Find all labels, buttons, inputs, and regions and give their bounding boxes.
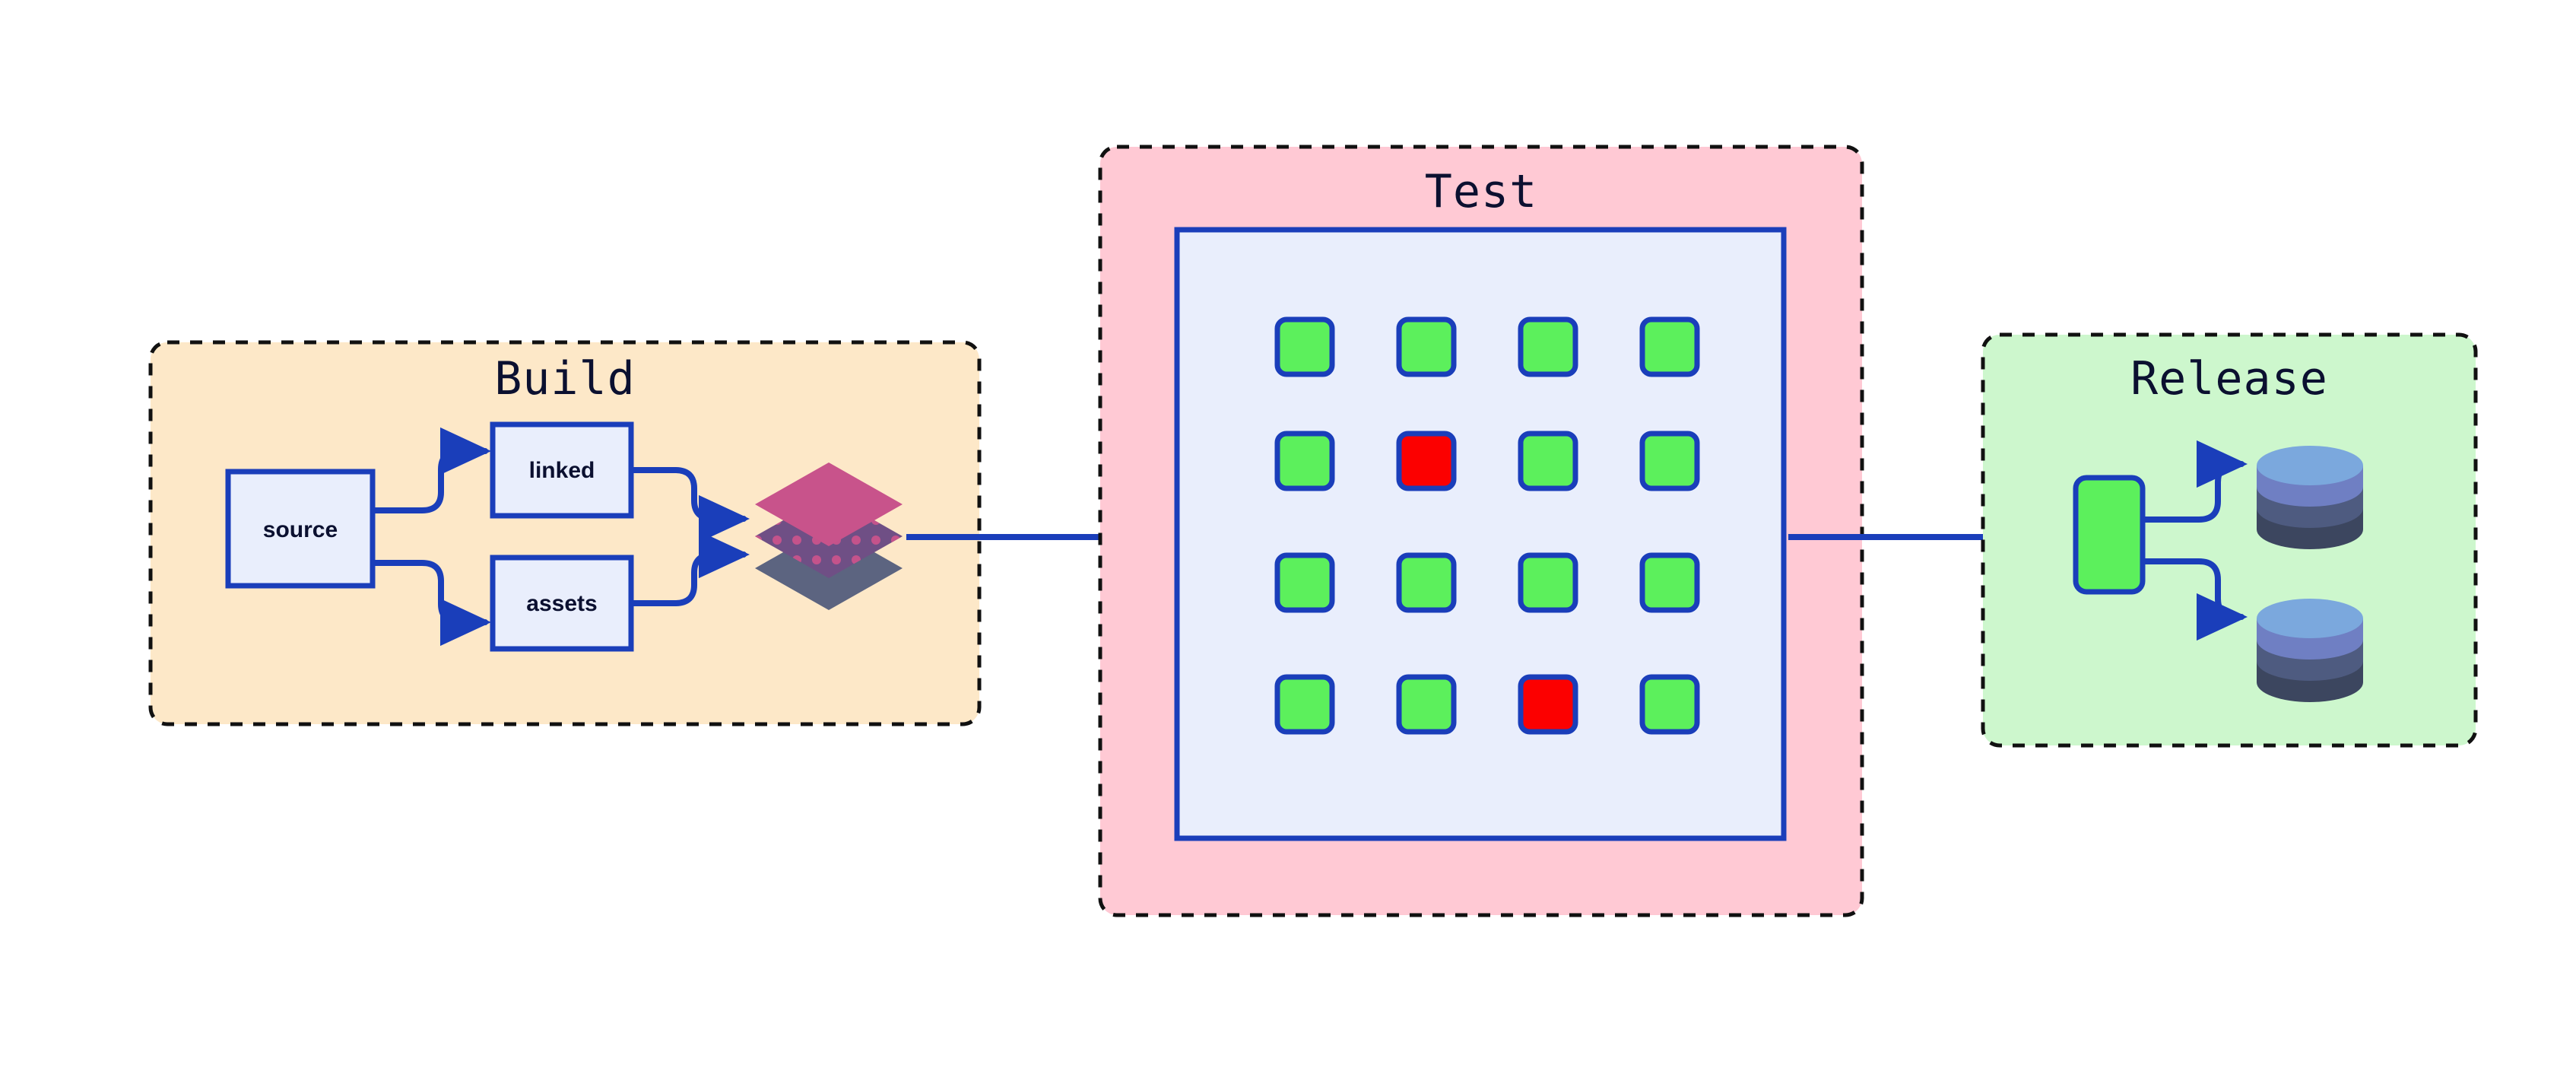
test-cell[interactable]: [1277, 319, 1332, 374]
test-cell[interactable]: [1521, 434, 1575, 488]
stage-release[interactable]: Release: [1983, 335, 2476, 745]
node-source-label: source: [263, 517, 338, 542]
database-bottom-lid: [2257, 599, 2363, 638]
stage-release-title: Release: [2130, 352, 2328, 405]
database-bottom-icon[interactable]: [2257, 599, 2363, 702]
node-linked-label: linked: [529, 458, 595, 483]
test-cell[interactable]: [1277, 555, 1332, 610]
test-cell[interactable]: [1277, 677, 1332, 732]
diagram-canvas: Build source linked assets: [0, 0, 2576, 1068]
test-cell[interactable]: [1521, 555, 1575, 610]
test-cell[interactable]: [1399, 677, 1454, 732]
test-cell[interactable]: [1521, 319, 1575, 374]
test-cell[interactable]: [1277, 434, 1332, 488]
database-top-icon[interactable]: [2257, 446, 2363, 549]
test-cell-failed[interactable]: [1399, 434, 1454, 488]
test-cell[interactable]: [1642, 677, 1697, 732]
stage-build[interactable]: Build source linked assets: [151, 342, 979, 724]
node-source[interactable]: source: [228, 472, 373, 586]
test-cell[interactable]: [1399, 319, 1454, 374]
pipeline-diagram: Build source linked assets: [0, 0, 2576, 1068]
release-gate-box: [2076, 478, 2143, 592]
test-cell[interactable]: [1399, 555, 1454, 610]
stage-build-title: Build: [494, 352, 636, 405]
stage-test[interactable]: Test: [1100, 147, 1862, 915]
node-linked[interactable]: linked: [493, 424, 631, 516]
test-cell[interactable]: [1642, 555, 1697, 610]
node-assets-label: assets: [526, 591, 597, 616]
release-gate[interactable]: [2076, 478, 2143, 592]
stage-test-title: Test: [1425, 165, 1538, 218]
database-top-lid: [2257, 446, 2363, 485]
test-cell[interactable]: [1642, 434, 1697, 488]
test-cell-failed[interactable]: [1521, 677, 1575, 732]
test-cell[interactable]: [1642, 319, 1697, 374]
node-assets[interactable]: assets: [493, 558, 631, 649]
